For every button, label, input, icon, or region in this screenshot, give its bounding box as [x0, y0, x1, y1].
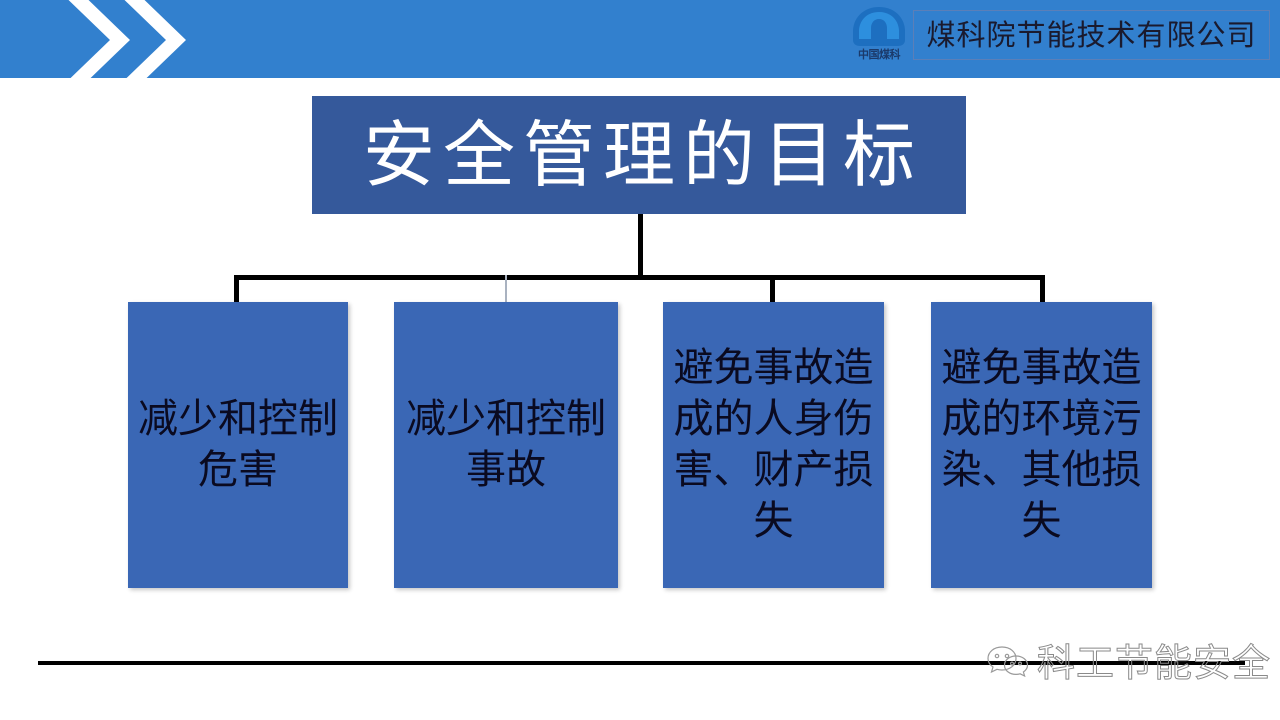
connector-drop-2 — [505, 275, 507, 303]
header-band: 中国煤科 煤科院节能技术有限公司 — [0, 0, 1280, 78]
diagram-node-4: 避免事故造成的环境污染、其他损失 — [931, 302, 1152, 588]
diagram-node-3: 避免事故造成的人身伤害、财产损失 — [663, 302, 884, 588]
diagram-node-1-label: 减少和控制危害 — [128, 394, 348, 496]
logo-caption: 中国煤科 — [845, 48, 913, 61]
connector-drop-4 — [1040, 275, 1045, 303]
company-name: 煤科院节能技术有限公司 — [926, 21, 1256, 50]
company-logo: 中国煤科 — [845, 4, 913, 70]
diagram-node-2: 减少和控制事故 — [394, 302, 618, 588]
diagram-node-3-label: 避免事故造成的人身伤害、财产损失 — [663, 343, 884, 547]
watermark-label: 科工节能安全 — [1037, 644, 1271, 682]
slide-title-box: 安全管理的目标 — [312, 96, 966, 214]
connector-bus — [234, 275, 1044, 280]
connector-drop-3 — [770, 275, 775, 303]
diagram-node-4-label: 避免事故造成的环境污染、其他损失 — [931, 343, 1152, 547]
double-chevron-right-icon — [52, 0, 212, 88]
company-name-box: 煤科院节能技术有限公司 — [913, 10, 1270, 60]
diagram-node-2-label: 减少和控制事故 — [394, 394, 618, 496]
wechat-icon — [985, 643, 1031, 683]
connector-trunk — [638, 214, 643, 279]
slide-canvas: 中国煤科 煤科院节能技术有限公司 安全管理的目标 减少和控制危害 减少和控制事故… — [0, 0, 1280, 720]
footer-watermark: 科工节能安全 — [985, 638, 1271, 688]
page-title: 安全管理的目标 — [355, 119, 923, 191]
china-coal-emblem-icon — [851, 6, 907, 48]
diagram-node-1: 减少和控制危害 — [128, 302, 348, 588]
connector-drop-1 — [234, 275, 239, 303]
